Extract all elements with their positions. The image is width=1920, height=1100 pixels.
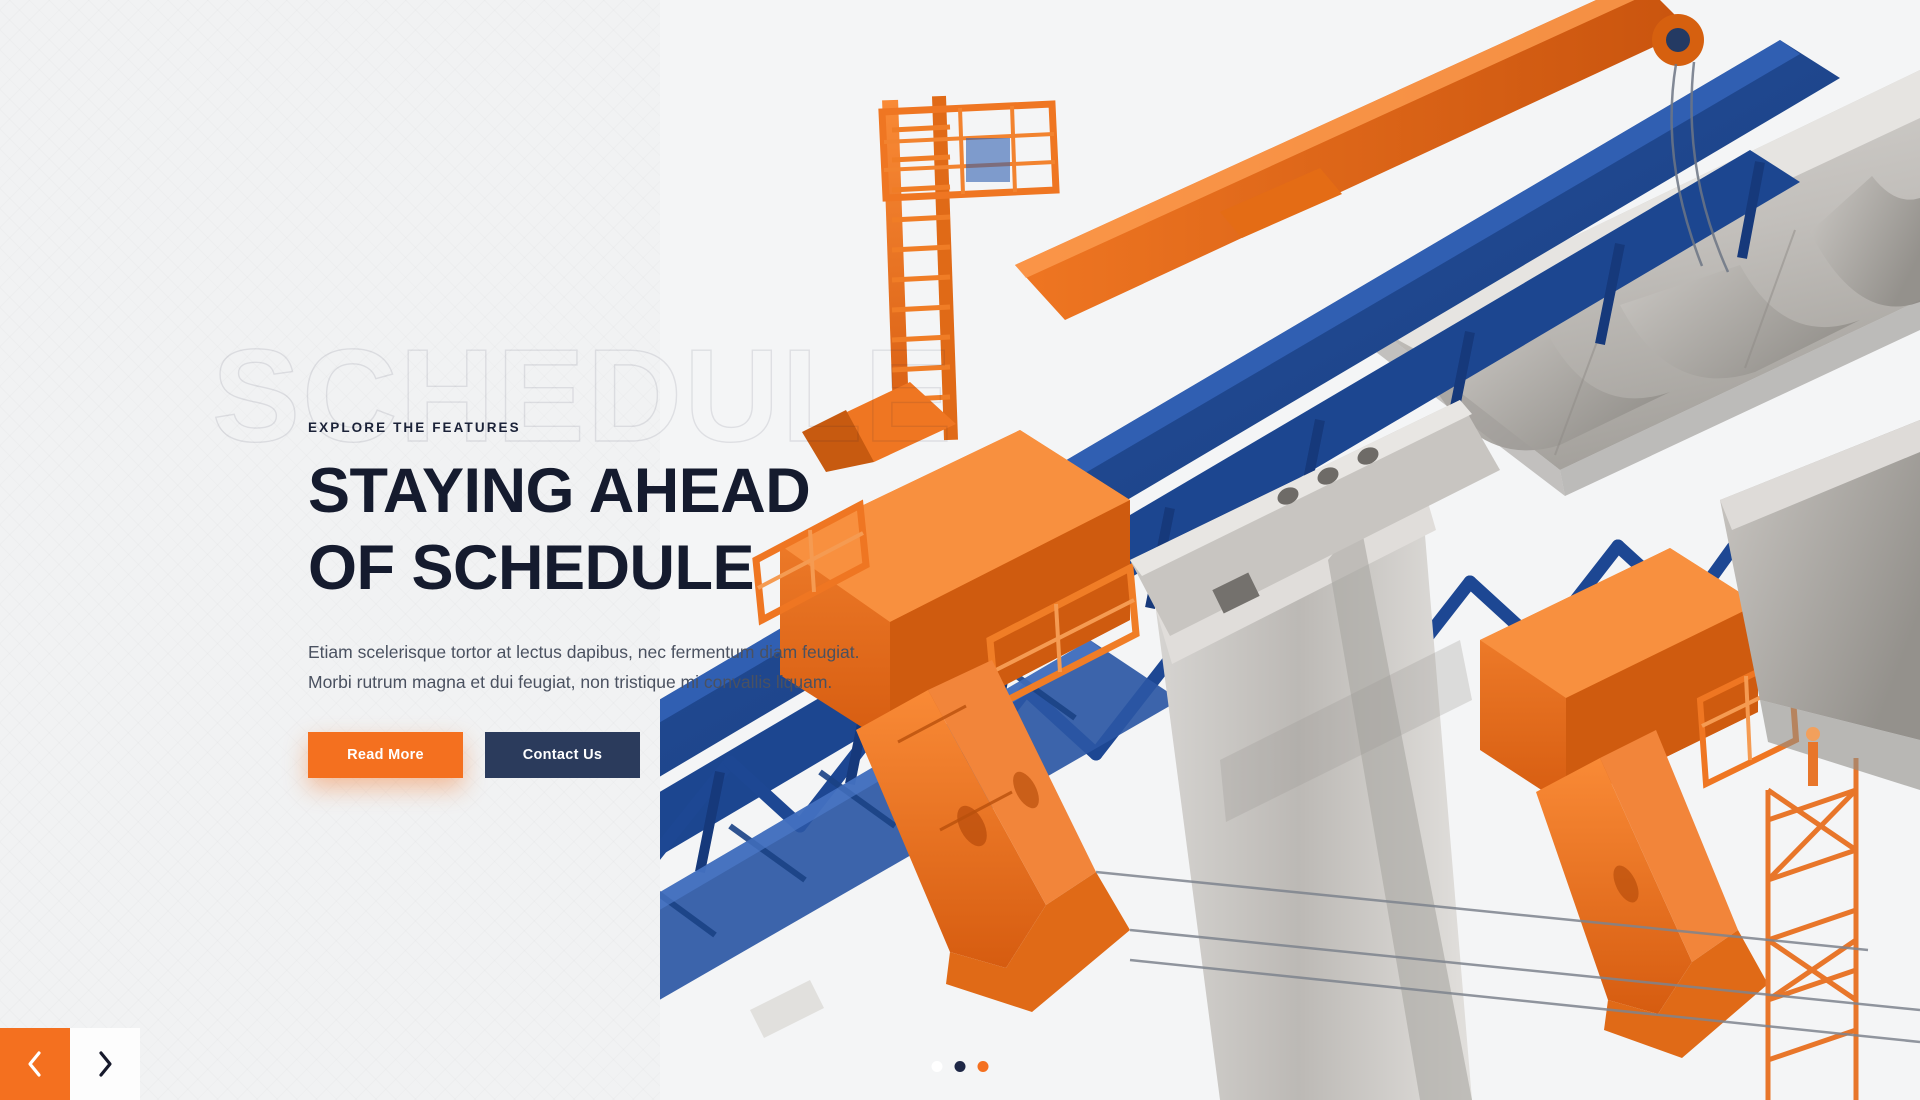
carousel-dot-2[interactable] [955,1061,966,1072]
read-more-button[interactable]: Read More [308,732,463,778]
carousel-next-button[interactable] [70,1028,140,1100]
carousel-dot-1[interactable] [932,1061,943,1072]
hero-slider: SCHEDULE EXPLORE THE FEATURES STAYING AH… [0,0,1920,1100]
carousel-navigation [0,1028,140,1100]
slide-content: EXPLORE THE FEATURES STAYING AHEAD OF SC… [308,420,948,778]
carousel-dots [932,1061,989,1072]
carousel-dot-3[interactable] [978,1061,989,1072]
carousel-prev-button[interactable] [0,1028,70,1100]
slide-eyebrow: EXPLORE THE FEATURES [308,420,948,435]
slide-headline: STAYING AHEAD OF SCHEDULE [308,453,948,607]
chevron-left-icon [26,1050,44,1078]
cta-button-row: Read More Contact Us [308,732,948,778]
slide-description: Etiam scelerisque tortor at lectus dapib… [308,637,908,697]
chevron-right-icon [96,1050,114,1078]
contact-us-button[interactable]: Contact Us [485,732,640,778]
